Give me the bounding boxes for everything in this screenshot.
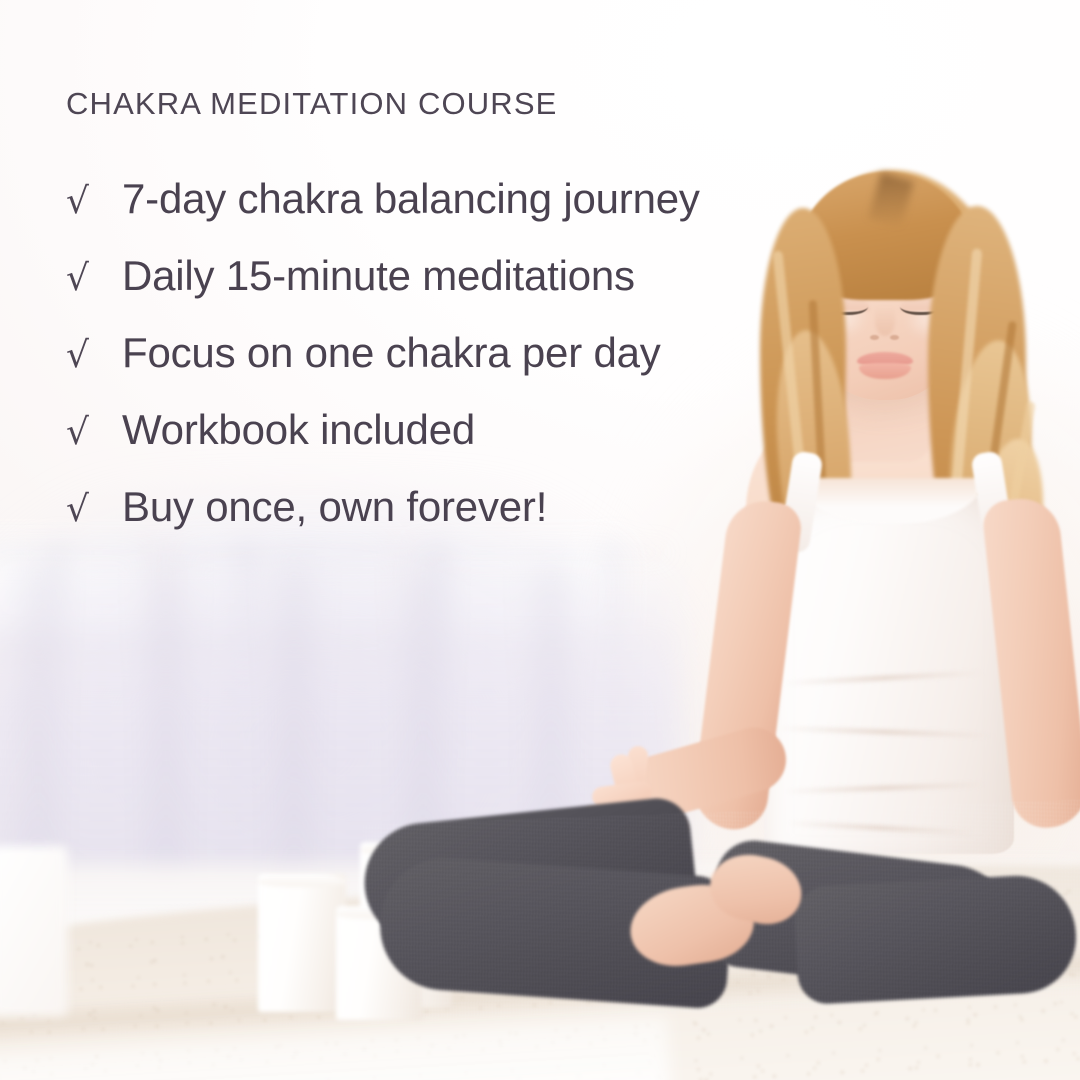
feature-label: Buy once, own forever! [122, 486, 547, 528]
check-icon: √ [66, 492, 122, 528]
text-overlay: CHAKRA MEDITATION COURSE √ 7-day chakra … [0, 0, 1080, 1080]
check-icon: √ [66, 338, 122, 374]
check-icon: √ [66, 261, 122, 297]
check-icon: √ [66, 184, 122, 220]
check-icon: √ [66, 415, 122, 451]
feature-label: Workbook included [122, 409, 475, 451]
feature-list-item: √ Buy once, own forever! [66, 486, 826, 563]
feature-label: Focus on one chakra per day [122, 332, 661, 374]
feature-list-item: √ Daily 15-minute meditations [66, 255, 826, 332]
feature-list-item: √ Workbook included [66, 409, 826, 486]
poster-title: CHAKRA MEDITATION COURSE [66, 86, 558, 122]
feature-list-item: √ 7-day chakra balancing journey [66, 178, 826, 255]
feature-list: √ 7-day chakra balancing journey √ Daily… [66, 178, 826, 563]
feature-label: Daily 15-minute meditations [122, 255, 635, 297]
feature-list-item: √ Focus on one chakra per day [66, 332, 826, 409]
feature-label: 7-day chakra balancing journey [122, 178, 700, 220]
meditation-course-poster: CHAKRA MEDITATION COURSE √ 7-day chakra … [0, 0, 1080, 1080]
